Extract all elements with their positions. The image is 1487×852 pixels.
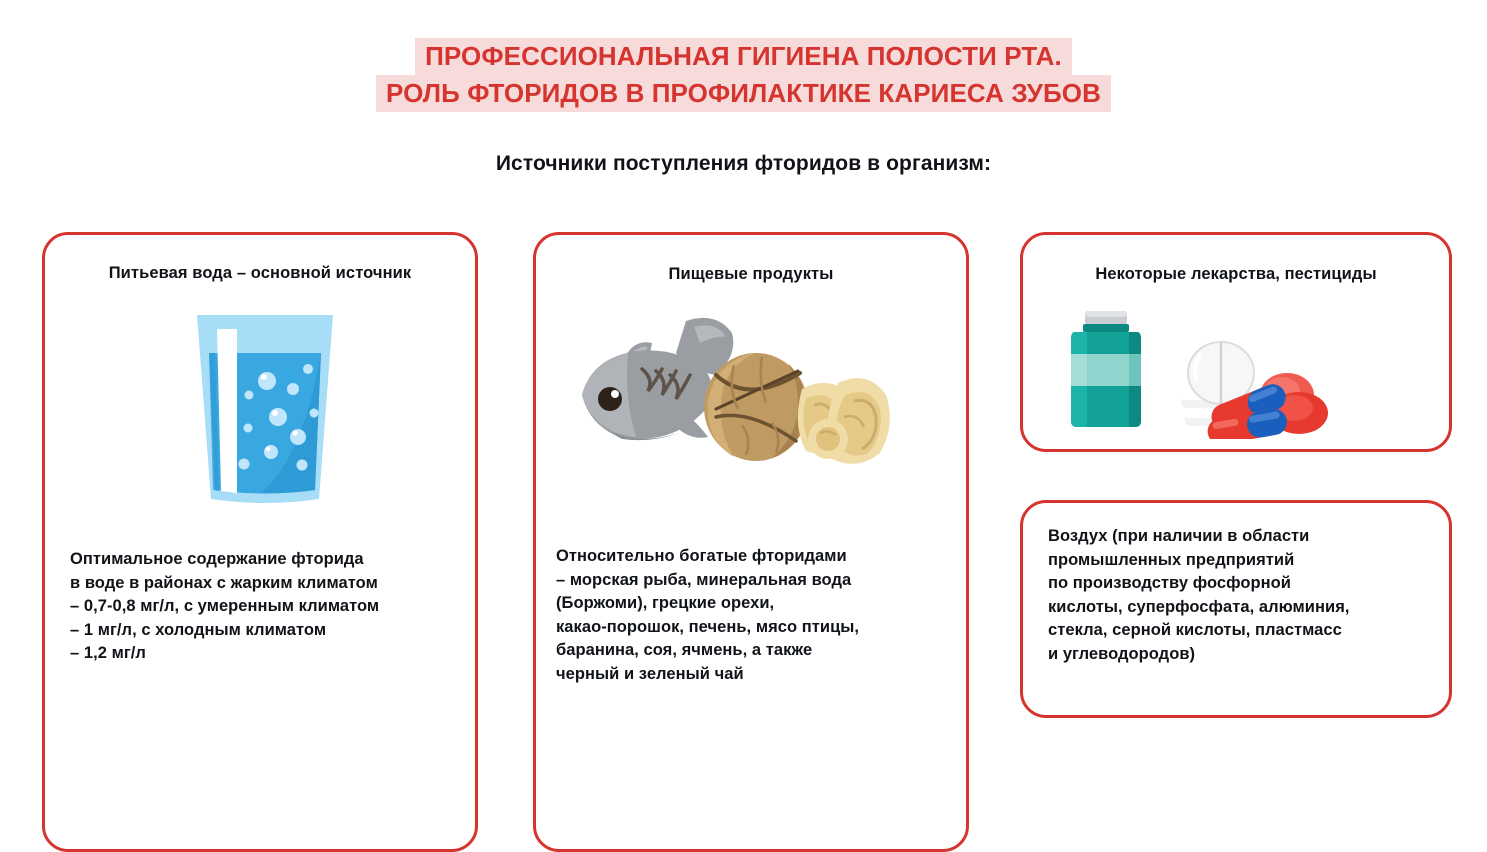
glass-of-water-icon xyxy=(175,307,355,512)
card-medicines-pesticides: Некоторые лекарства, пестициды xyxy=(1020,232,1452,452)
fish-and-walnuts-icon xyxy=(566,313,906,503)
card-drinking-water: Питьевая вода – основной источник xyxy=(42,232,478,852)
medicine-bottle-and-pills-icon xyxy=(1051,309,1341,444)
subtitle: Источники поступления фторидов в организ… xyxy=(0,152,1487,176)
card-air: Воздух (при наличии в области промышленн… xyxy=(1020,500,1452,718)
page-title-line-2: РОЛЬ ФТОРИДОВ В ПРОФИЛАКТИКЕ КАРИЕСА ЗУБ… xyxy=(376,75,1111,112)
card-title-drinking-water: Питьевая вода – основной источник xyxy=(45,264,475,283)
card-title-food-products: Пищевые продукты xyxy=(536,265,966,284)
page-title: ПРОФЕССИОНАЛЬНАЯ ГИГИЕНА ПОЛОСТИ РТА. РО… xyxy=(0,38,1487,112)
card-body-food-products: Относительно богатые фторидами – морская… xyxy=(556,545,954,687)
page-title-line-1: ПРОФЕССИОНАЛЬНАЯ ГИГИЕНА ПОЛОСТИ РТА. xyxy=(415,38,1072,75)
card-body-air: Воздух (при наличии в области промышленн… xyxy=(1048,525,1437,667)
card-title-medicines-pesticides: Некоторые лекарства, пестициды xyxy=(1023,265,1449,284)
card-food-products: Пищевые продукты xyxy=(533,232,969,852)
card-body-drinking-water: Оптимальное содержание фторида в воде в … xyxy=(70,548,461,666)
